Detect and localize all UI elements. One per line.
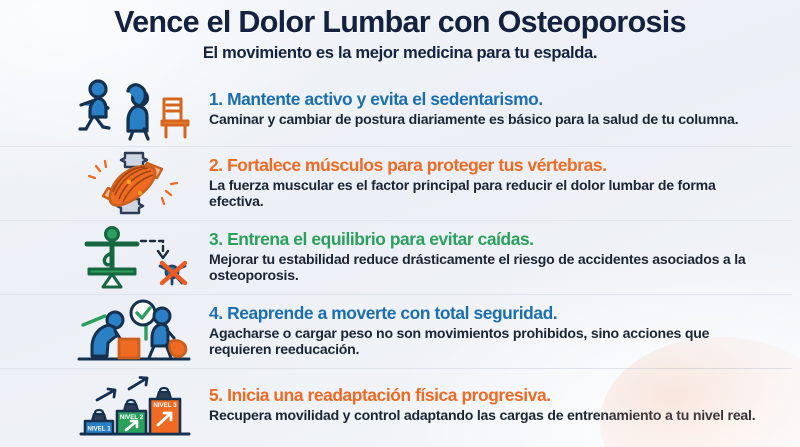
step-body: Recupera movilidad y control adaptando l… [209,407,769,423]
step-body: Caminar y cambiar de postura diariamente… [209,111,769,127]
step-text: 5. Inicia una readaptación física progre… [205,386,790,423]
steps-list: 1. Mantente activo y evita el sedentaris… [0,72,800,442]
level-3-label: NIVEL 3 [153,402,177,409]
progressive-levels-steps-icon: NIVEL 1 NIVEL 2 [60,370,205,440]
level-1-label: NIVEL 1 [87,425,111,432]
step-heading: 5. Inicia una readaptación física progre… [209,386,790,405]
step-text: 2. Fortalece músculos para proteger tus … [205,156,790,210]
step-text: 4. Reaprende a moverte con total segurid… [205,304,790,358]
poster-header: Vence el Dolor Lumbar con Osteoporosis E… [0,0,800,62]
step-heading: 1. Mantente activo y evita el sedentaris… [209,90,790,109]
step-heading: 3. Entrena el equilibrio para evitar caí… [209,230,790,249]
muscle-between-vertebrae-icon [60,148,205,218]
step-text: 3. Entrena el equilibrio para evitar caí… [205,230,790,284]
step-text: 1. Mantente activo y evita el sedentaris… [205,90,790,127]
step-heading: 4. Reaprende a moverte con total segurid… [209,304,790,323]
list-item: 2. Fortalece músculos para proteger tus … [0,146,790,220]
infographic-poster: Vence el Dolor Lumbar con Osteoporosis E… [0,0,800,447]
balance-board-no-fall-icon [60,222,205,292]
list-item: NIVEL 1 NIVEL 2 [0,368,790,442]
step-body: Agacharse o cargar peso no son movimient… [209,325,769,358]
list-item: 4. Reaprende a moverte con total segurid… [0,294,790,368]
step-heading: 2. Fortalece músculos para proteger tus … [209,156,790,175]
page-subtitle: El movimiento es la mejor medicina para … [0,44,800,61]
step-body: Mejorar tu estabilidad reduce drásticame… [209,251,769,284]
page-title: Vence el Dolor Lumbar con Osteoporosis [0,7,800,38]
list-item: 1. Mantente activo y evita el sedentaris… [0,72,790,146]
list-item: 3. Entrena el equilibrio para evitar caí… [0,220,790,294]
step-body: La fuerza muscular es el factor principa… [209,177,769,210]
safe-lifting-carrying-check-icon [60,296,205,366]
walking-and-stretching-person-icon [60,74,205,144]
